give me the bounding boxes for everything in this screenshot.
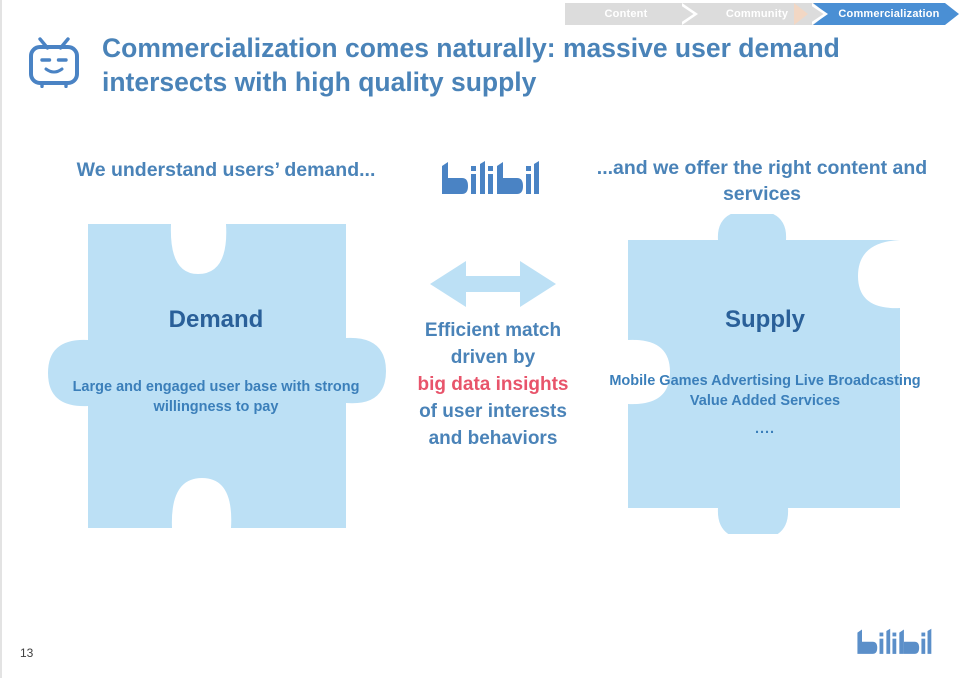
- supply-title: Supply: [600, 306, 930, 334]
- breadcrumb-item-label: Community: [726, 8, 788, 20]
- supply-body: Mobile Games Advertising Live Broadcasti…: [600, 372, 930, 440]
- center-line-1: Efficient match: [392, 318, 594, 345]
- center-line-4: of user interests: [392, 399, 594, 426]
- center-description: Efficient match driven by big data insig…: [392, 318, 594, 453]
- left-section-heading: We understand users’ demand...: [46, 158, 406, 183]
- chevron-right-icon: [682, 3, 698, 25]
- supply-ellipsis: ....: [600, 420, 930, 440]
- supply-line: Mobile Games: [609, 373, 707, 389]
- double-headed-arrow-icon: [430, 255, 556, 313]
- supply-line: Advertising: [711, 373, 791, 389]
- center-highlight: big data insights: [392, 372, 594, 399]
- center-line-5: and behaviors: [392, 426, 594, 453]
- supply-line: Live Broadcasting: [795, 373, 921, 389]
- supply-puzzle-piece: Supply Mobile Games Advertising Live Bro…: [600, 214, 930, 534]
- right-section-heading: ...and we offer the right content and se…: [582, 155, 942, 208]
- title-row: Commercialization comes naturally: massi…: [26, 32, 940, 100]
- demand-body: Large and engaged user base with strong …: [46, 378, 386, 417]
- demand-title: Demand: [46, 306, 386, 334]
- breadcrumb-item-label: Content: [605, 8, 648, 20]
- breadcrumb-item-commercialization[interactable]: Commercialization: [813, 3, 959, 25]
- page-number: 13: [20, 646, 33, 660]
- bilibili-tv-logo-icon: [26, 36, 82, 88]
- breadcrumb-item-label: Commercialization: [838, 8, 939, 20]
- slide: Content Community Commercialization: [0, 0, 960, 678]
- bilibili-wordmark: [438, 160, 542, 202]
- page-title: Commercialization comes naturally: massi…: [102, 32, 922, 100]
- demand-line: Large and engaged: [73, 379, 206, 395]
- supply-line: Value Added Services: [690, 393, 840, 409]
- breadcrumb-item-content[interactable]: Content: [565, 3, 697, 25]
- demand-puzzle-piece: Demand Large and engaged user base with …: [46, 216, 386, 541]
- bilibili-wordmark-footer: [854, 628, 934, 660]
- double-arrow-container: [430, 255, 556, 313]
- breadcrumb: Content Community Commercialization: [565, 3, 959, 25]
- center-line-2: driven by: [392, 345, 594, 372]
- demand-line: user base with: [210, 379, 311, 395]
